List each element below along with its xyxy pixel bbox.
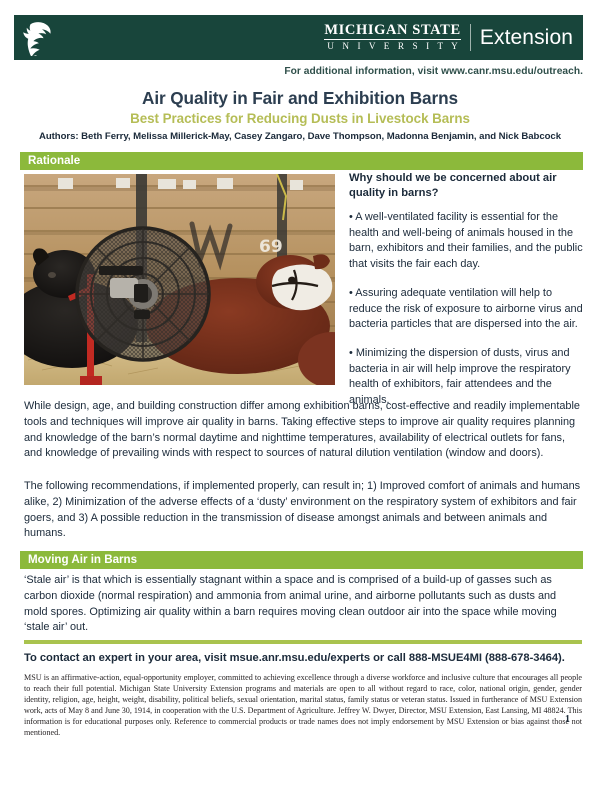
rationale-paragraph-1: While design, age, and building construc… — [24, 399, 582, 462]
section-header-moving-air: Moving Air in Barns — [20, 551, 583, 569]
rationale-question-heading: Why should we be concerned about air qua… — [349, 171, 587, 201]
rationale-right-column: Why should we be concerned about air qua… — [349, 171, 587, 422]
wordmark-divider — [470, 24, 471, 51]
rationale-bullet-1: • A well-ventilated facility is essentia… — [349, 210, 587, 273]
msu-university-lockup: MICHIGAN STATE U N I V E R S I T Y — [324, 23, 470, 51]
wordmark-michigan-state: MICHIGAN STATE — [324, 23, 461, 40]
spartan-helmet-icon — [22, 20, 56, 56]
page-title: Air Quality in Fair and Exhibition Barns — [0, 88, 600, 109]
page-subtitle: Best Practices for Reducing Dusts in Liv… — [0, 111, 600, 126]
barn-cattle-fan-photo: 69 — [24, 174, 335, 385]
footer-divider — [24, 640, 582, 644]
wordmark-extension: Extension — [480, 27, 573, 48]
additional-information-line: For additional information, visit www.ca… — [0, 66, 583, 77]
legal-disclaimer: MSU is an affirmative-action, equal-oppo… — [24, 672, 582, 738]
wordmark-university: U N I V E R S I T Y — [324, 40, 461, 51]
section-header-rationale: Rationale — [20, 152, 583, 170]
rationale-bullet-2: • Assuring adequate ventilation will hel… — [349, 286, 587, 333]
moving-air-paragraph-1: ‘Stale air’ is that which is essentially… — [24, 573, 582, 636]
msu-extension-wordmark: MICHIGAN STATE U N I V E R S I T Y Exten… — [324, 15, 573, 60]
contact-expert-line: To contact an expert in your area, visit… — [24, 652, 594, 664]
msu-extension-header-bar: MICHIGAN STATE U N I V E R S I T Y Exten… — [14, 15, 583, 60]
svg-text:69: 69 — [259, 237, 283, 257]
authors-line: Authors: Beth Ferry, Melissa Millerick-M… — [0, 131, 600, 142]
rationale-paragraph-2: The following recommendations, if implem… — [24, 479, 582, 542]
page-number: 1 — [0, 714, 570, 725]
document-page: MICHIGAN STATE U N I V E R S I T Y Exten… — [0, 0, 600, 787]
